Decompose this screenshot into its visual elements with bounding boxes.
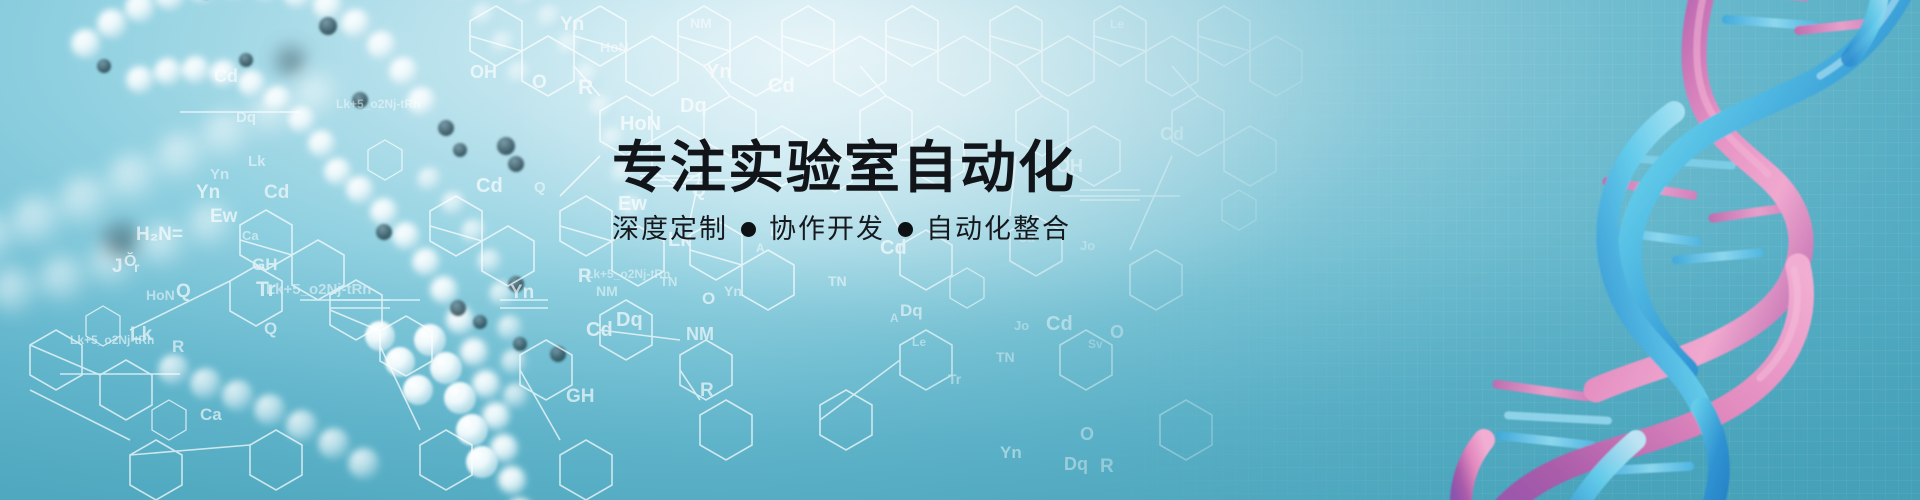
svg-text:R: R bbox=[172, 337, 184, 356]
svg-text:Dq: Dq bbox=[1064, 454, 1088, 474]
svg-text:H₂N=: H₂N= bbox=[136, 224, 183, 245]
svg-text:Lk: Lk bbox=[130, 324, 153, 345]
svg-text:Lk: Lk bbox=[248, 153, 266, 170]
bullet-dot-icon bbox=[741, 222, 756, 237]
svg-text:R: R bbox=[1100, 456, 1114, 477]
bullet-dot-icon bbox=[898, 222, 913, 237]
svg-text:Yn: Yn bbox=[196, 182, 220, 203]
svg-text:Sv: Sv bbox=[1088, 337, 1103, 351]
svg-text:Dq: Dq bbox=[900, 301, 923, 320]
svg-text:Ca: Ca bbox=[200, 405, 222, 424]
svg-text:Lk+5_o2Nj-tRn: Lk+5_o2Nj-tRn bbox=[586, 267, 670, 281]
svg-text:Yn: Yn bbox=[510, 282, 534, 303]
svg-text:Q: Q bbox=[534, 179, 546, 196]
svg-text:TN: TN bbox=[828, 273, 847, 289]
svg-text:NM: NM bbox=[690, 15, 712, 31]
svg-text:Dq: Dq bbox=[236, 109, 256, 126]
svg-text:Ca: Ca bbox=[242, 228, 259, 243]
svg-text:Q: Q bbox=[264, 319, 277, 338]
svg-text:Jo: Jo bbox=[1014, 318, 1029, 333]
svg-text:R: R bbox=[700, 380, 714, 401]
chemistry-structure-overlay: .lbl{ font-family:"Liberation Sans","Dej… bbox=[0, 0, 1380, 500]
svg-text:Dq: Dq bbox=[680, 95, 707, 117]
svg-text:A: A bbox=[756, 241, 765, 255]
svg-text:Yn: Yn bbox=[210, 166, 229, 183]
subtitle-item-3: 自动化整合 bbox=[926, 216, 1071, 243]
svg-text:HoN: HoN bbox=[146, 287, 175, 303]
ribbon-dna-double-helix bbox=[1430, 0, 1920, 500]
svg-text:NM: NM bbox=[686, 324, 714, 344]
svg-text:O: O bbox=[702, 289, 715, 308]
svg-text:Cd: Cd bbox=[586, 319, 613, 341]
svg-text:HoN: HoN bbox=[620, 113, 661, 135]
banner-text-block: 专注实验室自动化 深度定制 协作开发 自动化整合 bbox=[612, 140, 1252, 243]
svg-text:Yn: Yn bbox=[560, 14, 584, 35]
page-title: 专注实验室自动化 bbox=[612, 140, 1252, 196]
svg-text:Tr: Tr bbox=[948, 371, 962, 387]
svg-text:Cd: Cd bbox=[768, 75, 795, 97]
svg-text:Cd: Cd bbox=[1046, 313, 1073, 335]
svg-text:OH: OH bbox=[470, 62, 497, 82]
svg-text:r: r bbox=[134, 259, 140, 275]
svg-text:O: O bbox=[532, 72, 547, 93]
svg-text:Le: Le bbox=[1110, 17, 1124, 31]
svg-text:Cd: Cd bbox=[214, 66, 238, 86]
svg-text:Q: Q bbox=[176, 281, 191, 302]
svg-text:Yn: Yn bbox=[724, 283, 742, 299]
hero-banner: .lbl{ font-family:"Liberation Sans","Dej… bbox=[0, 0, 1920, 500]
svg-text:NM: NM bbox=[596, 283, 618, 299]
svg-text:TN: TN bbox=[996, 349, 1015, 365]
svg-text:Dq: Dq bbox=[616, 309, 643, 331]
svg-text:Ew: Ew bbox=[210, 206, 238, 227]
svg-text:Cd: Cd bbox=[476, 175, 503, 197]
svg-text:A: A bbox=[890, 311, 899, 325]
svg-text:O: O bbox=[1080, 424, 1094, 444]
svg-text:HoN: HoN bbox=[600, 39, 629, 55]
svg-text:Yn: Yn bbox=[706, 61, 732, 83]
svg-text:GH: GH bbox=[566, 386, 595, 407]
svg-text:Cd: Cd bbox=[264, 182, 289, 203]
svg-text:Lk+5_o2Nj-tRn: Lk+5_o2Nj-tRn bbox=[266, 281, 371, 298]
banner-subtitle: 深度定制 协作开发 自动化整合 bbox=[612, 216, 1252, 243]
svg-text:Lk+5_o2Nj-tRn: Lk+5_o2Nj-tRn bbox=[336, 97, 420, 111]
subtitle-item-1: 深度定制 bbox=[612, 216, 728, 243]
svg-text:Le: Le bbox=[912, 335, 926, 349]
svg-text:Yn: Yn bbox=[1000, 443, 1022, 462]
subtitle-item-2: 协作开发 bbox=[769, 216, 885, 243]
svg-text:J: J bbox=[112, 256, 123, 277]
svg-text:GH: GH bbox=[252, 255, 278, 274]
svg-text:R: R bbox=[578, 76, 593, 99]
svg-text:O: O bbox=[1110, 322, 1124, 342]
